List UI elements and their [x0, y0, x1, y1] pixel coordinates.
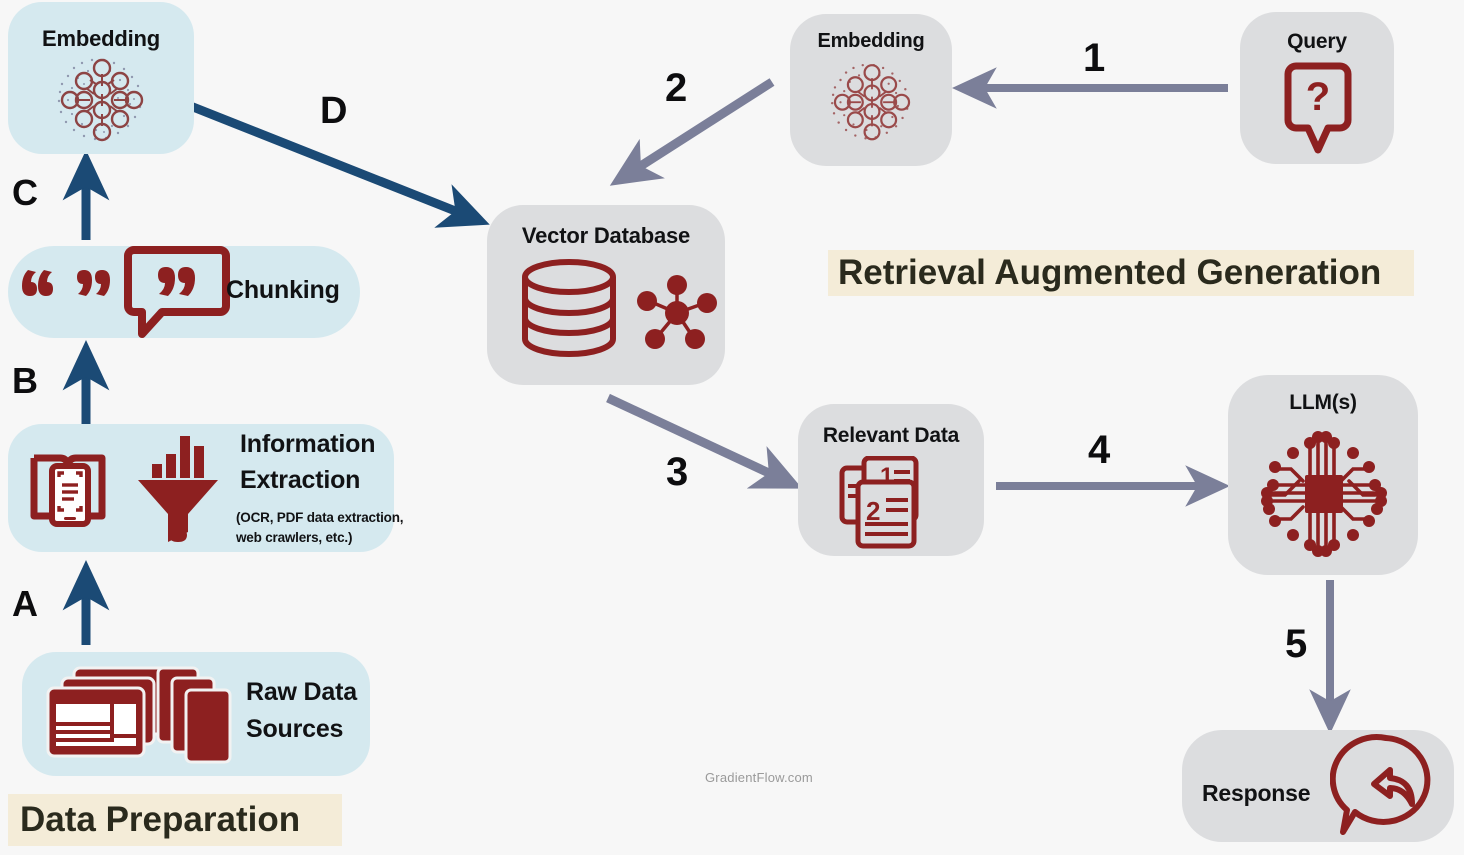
node-query[interactable]: Query ?: [1240, 12, 1394, 164]
edge-label-c: C: [12, 172, 38, 214]
diagram-canvas: A B C D 1 2 3 4 5 Embedding: [0, 0, 1464, 855]
edge-label-b: B: [12, 360, 38, 402]
node-chunking[interactable]: Chunking: [8, 246, 360, 338]
node-information-extraction-label-line1: Information: [240, 430, 375, 459]
node-response[interactable]: Response: [1182, 730, 1454, 842]
svg-text:2: 2: [866, 496, 880, 526]
node-embedding-right[interactable]: Embedding: [790, 14, 952, 166]
banner-data-preparation: Data Preparation: [8, 794, 342, 846]
node-information-extraction[interactable]: Information Extraction (OCR, PDF data ex…: [8, 424, 394, 552]
node-llm-label: LLM(s): [1228, 391, 1418, 415]
book-scan-icon: [26, 436, 114, 536]
node-response-label: Response: [1202, 780, 1310, 807]
node-embedding-right-label: Embedding: [790, 30, 952, 53]
node-embedding-left-label: Embedding: [8, 26, 194, 52]
arrow-3: [608, 398, 786, 481]
node-vector-database[interactable]: Vector Database: [487, 205, 725, 385]
node-vector-database-label: Vector Database: [487, 223, 725, 249]
documents-stack-icon: [38, 662, 238, 768]
node-raw-data-sources[interactable]: Raw Data Sources: [22, 652, 370, 776]
node-information-extraction-label-line2: Extraction: [240, 466, 360, 495]
edge-label-d: D: [320, 90, 347, 133]
node-embedding-left[interactable]: Embedding: [8, 2, 194, 154]
cpu-chip-icon: [1253, 423, 1395, 565]
edge-label-1: 1: [1083, 36, 1105, 81]
edge-label-4: 4: [1088, 428, 1110, 473]
node-llm[interactable]: LLM(s): [1228, 375, 1418, 575]
arrow-2: [625, 82, 772, 176]
database-cylinder-icon: [515, 257, 623, 369]
node-information-extraction-sub-line2: web crawlers, etc.): [236, 530, 352, 545]
node-raw-data-sources-label-line1: Raw Data: [246, 678, 357, 707]
node-raw-data-sources-label-line2: Sources: [246, 715, 343, 744]
node-relevant-data[interactable]: Relevant Data 1 2: [798, 404, 984, 556]
edge-label-5: 5: [1285, 622, 1307, 667]
banner-retrieval-augmented-generation: Retrieval Augmented Generation: [828, 250, 1414, 296]
node-relevant-data-label: Relevant Data: [798, 424, 984, 448]
embedding-network-icon: [48, 54, 156, 146]
vector-graph-icon: [635, 271, 719, 355]
numbered-documents-icon: 1 2: [836, 456, 944, 550]
embedding-network-icon: [822, 56, 922, 154]
reply-bubble-icon: [1330, 730, 1442, 846]
watermark: GradientFlow.com: [705, 770, 813, 785]
node-chunking-label: Chunking: [226, 276, 340, 305]
edge-label-3: 3: [666, 450, 688, 495]
edge-label-a: A: [12, 583, 38, 625]
data-funnel-icon: [132, 428, 224, 546]
svg-text:?: ?: [1306, 75, 1330, 119]
node-information-extraction-sub-line1: (OCR, PDF data extraction,: [236, 510, 403, 525]
quote-bubble-icon: [16, 240, 231, 340]
edge-label-2: 2: [665, 66, 687, 111]
node-query-label: Query: [1240, 30, 1394, 54]
question-bubble-icon: ?: [1284, 62, 1352, 154]
svg-text:1: 1: [880, 463, 893, 490]
